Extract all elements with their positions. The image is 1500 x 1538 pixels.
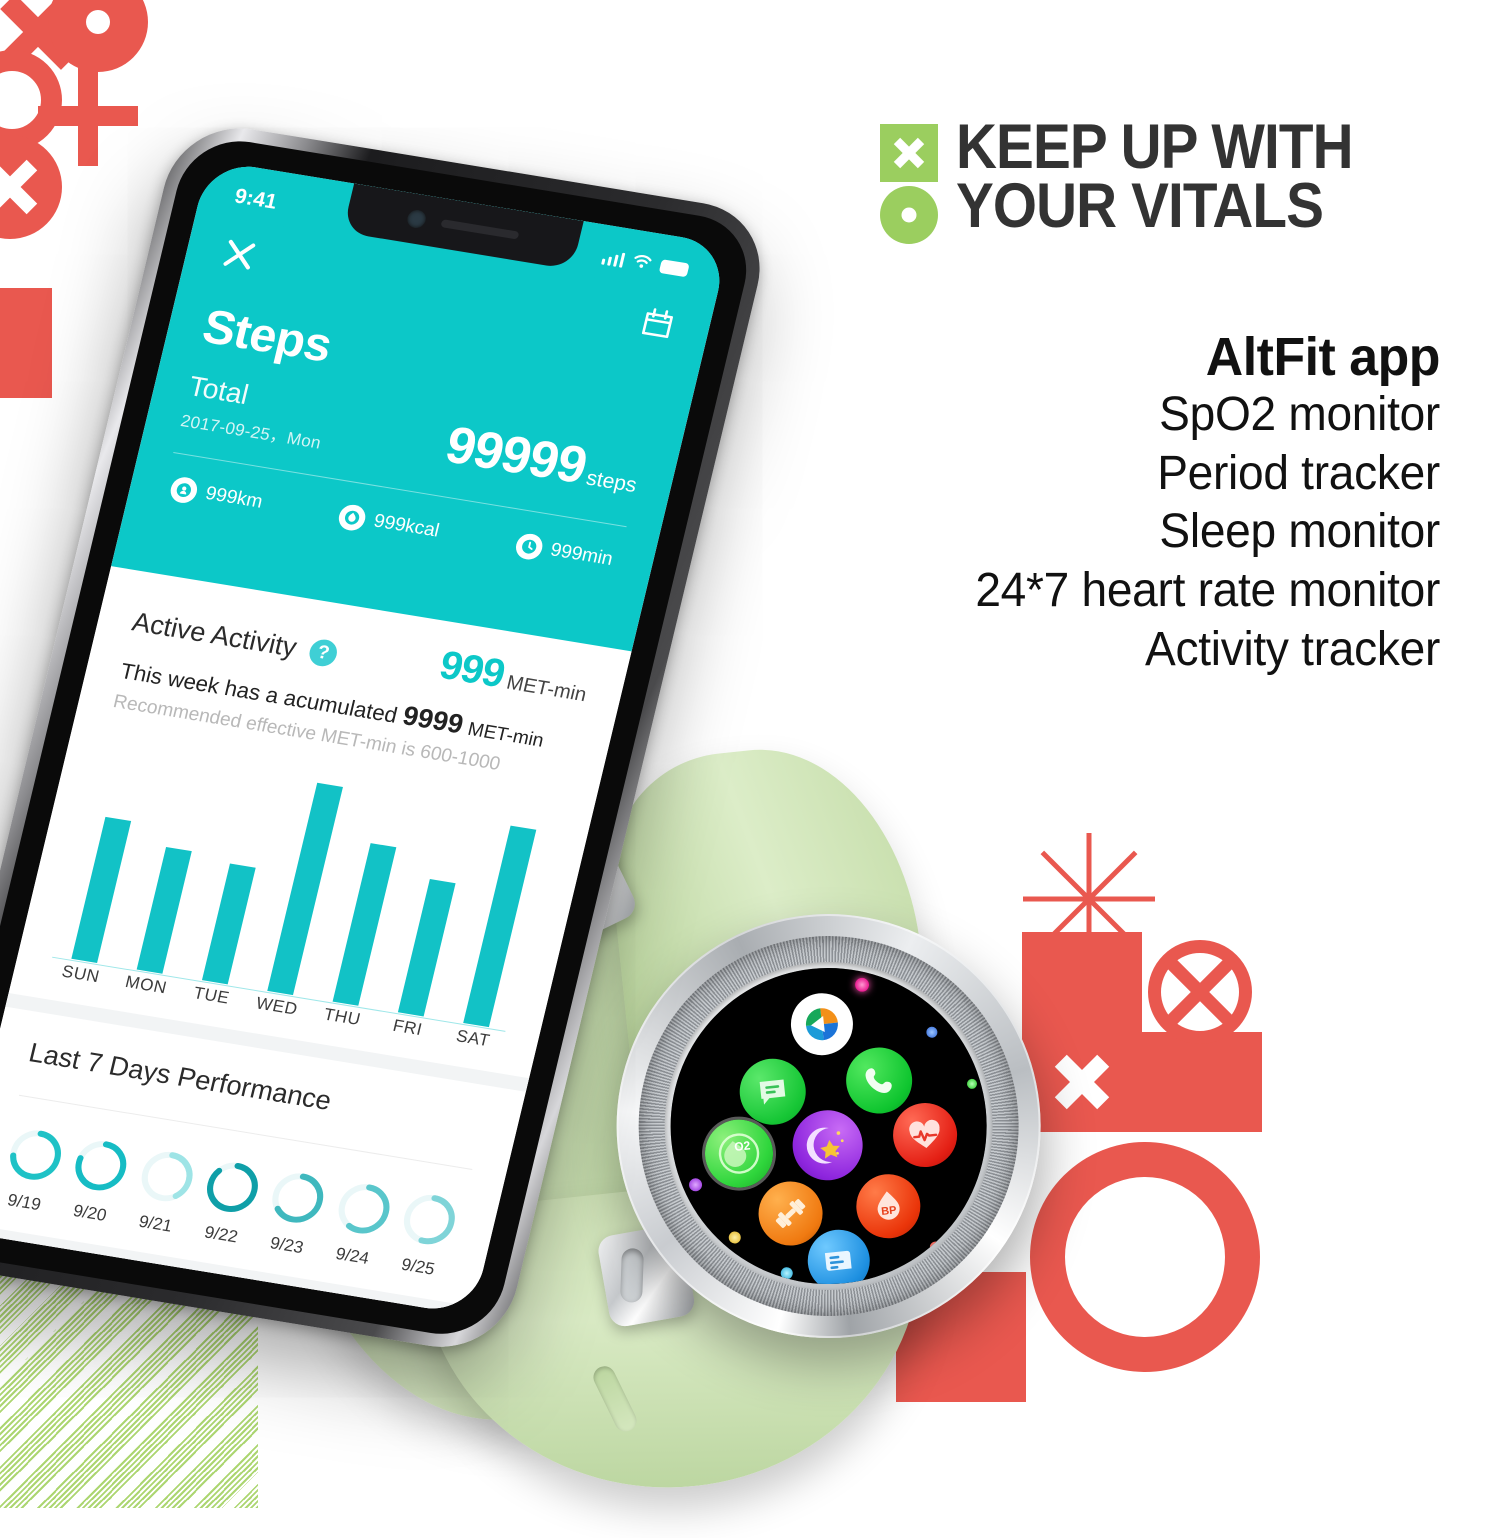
battery-icon — [659, 259, 690, 277]
messages-icon[interactable] — [736, 1056, 809, 1129]
speck-yellow-icon — [729, 1231, 742, 1244]
watch-screen[interactable]: O2 — [655, 952, 1002, 1299]
phone-call-icon[interactable] — [843, 1045, 916, 1118]
progress-ring-icon — [201, 1158, 265, 1217]
svg-text:BP: BP — [881, 1204, 897, 1218]
x-in-circle-outline-icon — [1148, 940, 1252, 1044]
progress-ring-icon — [332, 1179, 396, 1238]
speck-purple-icon — [688, 1178, 702, 1192]
chart-x-label: FRI — [377, 1014, 436, 1055]
headline-line-2: YOUR VITALS — [956, 177, 1353, 236]
total-steps-unit: steps — [584, 467, 639, 497]
speck-red-icon — [930, 1241, 942, 1253]
earpiece-speaker — [440, 219, 519, 239]
progress-ring-icon — [69, 1136, 133, 1195]
sleep-moon-icon[interactable] — [789, 1107, 866, 1184]
front-camera-icon — [406, 209, 428, 229]
chart-bar — [202, 864, 256, 985]
metric-duration: 999min — [513, 532, 615, 573]
performance-ring-label: 9/19 — [5, 1190, 42, 1215]
plus-icon — [38, 66, 138, 166]
watch-bezel-inner: O2 — [648, 946, 1008, 1306]
performance-ring-item: 9/19 — [0, 1126, 67, 1217]
feature-item-sleep: Sleep monitor — [787, 503, 1440, 562]
active-activity-value: 999 — [435, 643, 508, 696]
summary-unit: MET-min — [466, 719, 546, 752]
wifi-icon — [630, 250, 654, 276]
performance-ring-item: 9/20 — [62, 1136, 133, 1227]
status-time: 9:41 — [232, 185, 279, 215]
performance-ring-item: 9/23 — [259, 1169, 330, 1260]
chart-x-label: MON — [115, 971, 174, 1012]
speck-green-icon — [967, 1079, 978, 1090]
clock-icon — [513, 532, 545, 561]
chart-bar — [333, 843, 397, 1005]
performance-ring-label: 9/20 — [71, 1201, 108, 1226]
watch-bezel: O2 — [620, 917, 1038, 1335]
feature-item-spo2: SpO2 monitor — [787, 386, 1440, 445]
speck-pink-gear-icon — [854, 977, 869, 992]
progress-ring-icon — [4, 1126, 68, 1185]
close-x-icon[interactable] — [217, 234, 261, 275]
square-shape-b — [1142, 1032, 1262, 1132]
performance-ring-label: 9/22 — [202, 1223, 239, 1248]
speck-cyan-icon — [780, 1267, 793, 1280]
performance-ring-label: 9/21 — [137, 1212, 174, 1237]
square-shape — [0, 288, 52, 398]
progress-ring-icon — [266, 1169, 330, 1228]
calendar-icon[interactable] — [637, 304, 679, 343]
performance-ring-label: 9/23 — [268, 1233, 305, 1258]
performance-ring-label: 9/25 — [399, 1255, 436, 1280]
metric-distance: 999km — [168, 475, 265, 515]
progress-ring-icon — [135, 1147, 199, 1206]
summary-value: 9999 — [400, 700, 466, 739]
location-pin-icon — [168, 475, 200, 504]
performance-ring-item: 9/24 — [324, 1179, 395, 1270]
metric-calories-value: 999kcal — [371, 511, 441, 543]
headline-block: KEEP UP WITH YOUR VITALS — [880, 118, 1440, 244]
flame-icon — [336, 503, 368, 532]
performance-ring-item: 9/25 — [390, 1190, 461, 1281]
total-steps-value: 99999 — [440, 416, 592, 495]
feature-item-activity: Activity tracker — [787, 621, 1440, 680]
workout-dumbbell-icon[interactable] — [755, 1178, 825, 1248]
blood-pressure-icon[interactable]: BP — [853, 1171, 923, 1241]
performance-ring-item: 9/22 — [193, 1158, 264, 1249]
chart-bar — [398, 879, 456, 1016]
spo2-icon[interactable]: O2 — [701, 1116, 776, 1191]
headline-line-1: KEEP UP WITH — [956, 118, 1353, 177]
performance-ring-label: 9/24 — [334, 1244, 371, 1269]
active-activity-title: Active Activity — [129, 607, 300, 664]
speck-blue-icon — [926, 1026, 938, 1038]
progress-ring-icon — [398, 1190, 462, 1249]
active-activity-unit: MET-min — [504, 672, 588, 706]
chart-x-label: SUN — [50, 961, 109, 1002]
metric-calories: 999kcal — [336, 503, 442, 545]
app-name-title: AltFit app — [787, 328, 1440, 386]
chart-x-label: SAT — [442, 1025, 501, 1066]
chart-x-label: WED — [246, 993, 305, 1034]
content-card: Active Activity ? 999MET-min This week h… — [0, 566, 632, 1315]
cellular-signal-icon — [601, 249, 626, 268]
svg-text:O2: O2 — [733, 1139, 751, 1155]
heart-rate-icon[interactable] — [890, 1100, 960, 1170]
x-mark-icon — [880, 124, 938, 182]
chart-x-label: TUE — [180, 982, 239, 1023]
feature-list: AltFit app SpO2 monitor Period tracker S… — [760, 328, 1440, 679]
app-launcher-icon[interactable] — [788, 990, 856, 1058]
feature-item-period: Period tracker — [787, 445, 1440, 504]
chart-bar — [136, 847, 191, 974]
chart-bar — [71, 817, 131, 963]
square-shape-a — [1022, 932, 1142, 1032]
ring-large-icon — [1030, 1142, 1260, 1372]
dot-circle-icon — [880, 186, 938, 244]
news-card-icon[interactable] — [805, 1227, 873, 1295]
chart-x-label: THU — [311, 1003, 370, 1044]
feature-item-heart-rate: 24*7 heart rate monitor — [787, 562, 1440, 621]
question-mark-icon[interactable]: ? — [307, 638, 340, 669]
metric-duration-value: 999min — [548, 539, 615, 570]
headline-badges — [880, 118, 938, 244]
performance-ring-item: 9/21 — [127, 1147, 198, 1238]
poster-canvas: KEEP UP WITH YOUR VITALS AltFit app SpO2… — [0, 0, 1500, 1500]
metric-distance-value: 999km — [203, 483, 265, 514]
